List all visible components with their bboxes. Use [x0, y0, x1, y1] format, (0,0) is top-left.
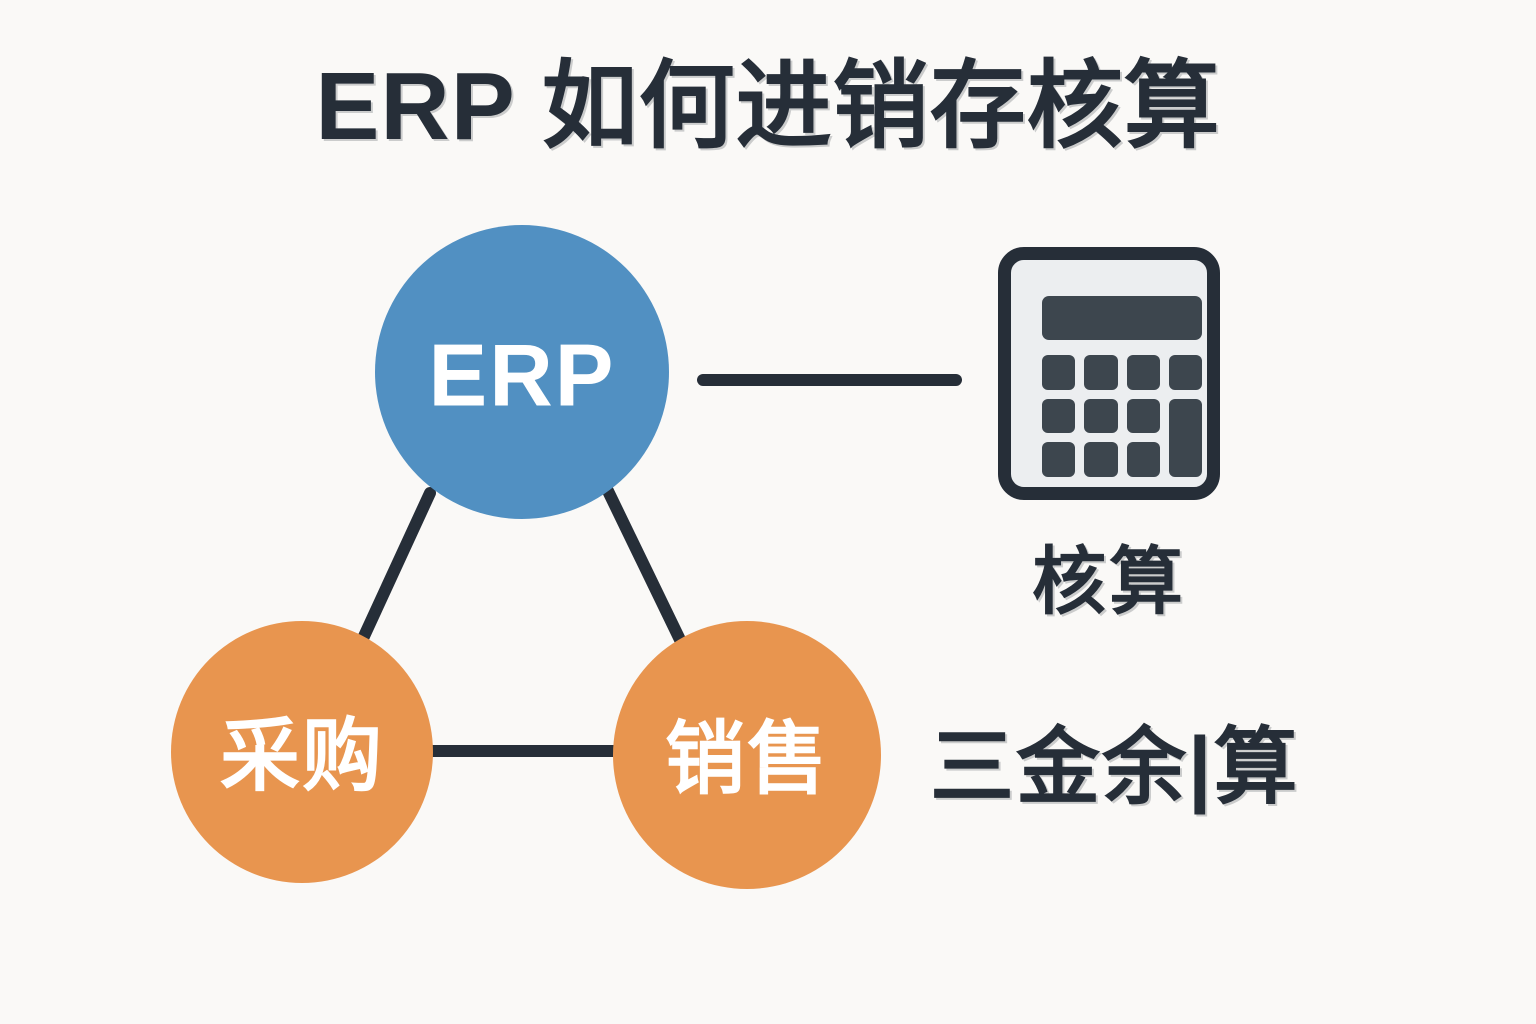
node-purchase-label: 采购 — [220, 712, 384, 801]
calculator-key — [1084, 399, 1117, 434]
calculator-caption: 核算 — [998, 522, 1220, 629]
node-sales-label: 销售 — [665, 715, 829, 804]
connector-erp-purchase — [360, 493, 430, 645]
page-title: ERP 如何进销存核算 — [0, 52, 1536, 162]
calculator-keypad — [1042, 355, 1202, 477]
calculator-key — [1084, 442, 1117, 477]
canvas: ERP 如何进销存核算 ERP 采购 销售 — [0, 0, 1536, 1024]
footer-text: 三金余|算 — [930, 700, 1300, 821]
calculator-display — [1042, 296, 1202, 340]
calculator-key-tall — [1169, 399, 1202, 477]
calculator-key — [1042, 399, 1075, 434]
calculator-icon — [998, 247, 1220, 500]
connector-erp-sales — [608, 491, 684, 648]
node-erp-label: ERP — [429, 326, 616, 425]
calculator-key — [1169, 355, 1202, 390]
calculator-key — [1042, 442, 1075, 477]
node-purchase[interactable]: 采购 — [171, 621, 433, 883]
calculator-key — [1127, 442, 1160, 477]
calculator-key — [1084, 355, 1117, 390]
calculator-body — [998, 247, 1220, 500]
node-erp[interactable]: ERP — [375, 225, 669, 519]
calculator-key — [1042, 355, 1075, 390]
node-sales[interactable]: 销售 — [613, 621, 881, 889]
calculator-key — [1127, 399, 1160, 434]
calculator-key — [1127, 355, 1160, 390]
